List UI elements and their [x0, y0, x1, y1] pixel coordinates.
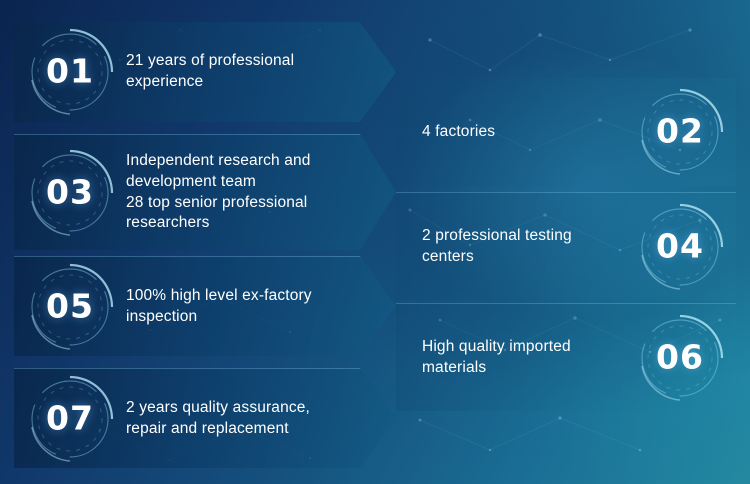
number-badge-01: 01	[14, 22, 126, 122]
number-badge-06: 06	[624, 304, 736, 412]
number-badge-05: 05	[14, 257, 126, 357]
advantage-text-line: 100% high level ex-factory	[126, 287, 312, 304]
number-badge-03: 03	[14, 135, 126, 251]
infographic-canvas: 01 21 years of professional experience 0…	[0, 0, 750, 484]
advantage-text-line: 4 factories	[422, 123, 495, 140]
advantage-text-03: Independent research and development tea…	[126, 151, 355, 235]
advantage-text-line: materials	[422, 358, 618, 379]
number-badge-07: 07	[14, 369, 126, 469]
advantage-panel-04[interactable]: 2 professional testing centers 04	[396, 192, 736, 300]
advantage-text-06: High quality imported materials	[396, 337, 624, 379]
advantage-text-07: 2 years quality assurance, repair and re…	[126, 398, 354, 440]
number-label: 07	[46, 398, 94, 437]
number-label: 04	[656, 226, 704, 265]
advantage-text-line: 2 years quality assurance,	[126, 399, 310, 416]
advantage-panel-03[interactable]: 03 Independent research and development …	[14, 134, 396, 250]
advantage-text-line: repair and replacement	[126, 419, 310, 440]
advantage-text-line: centers	[422, 247, 618, 268]
advantage-text-line: 28 top senior professional	[126, 193, 311, 214]
advantage-text-line: 21 years of professional	[126, 52, 294, 69]
advantage-text-line: experience	[126, 72, 294, 93]
advantage-text-02: 4 factories	[396, 122, 624, 143]
advantage-text-line: development team	[126, 172, 311, 193]
number-label: 06	[656, 337, 704, 376]
number-label: 03	[46, 172, 94, 211]
advantage-panel-06[interactable]: High quality imported materials 06	[396, 303, 736, 411]
advantage-panel-05[interactable]: 05 100% high level ex-factory inspection	[14, 256, 396, 356]
advantage-text-04: 2 professional testing centers	[396, 226, 624, 268]
number-label: 05	[46, 286, 94, 325]
advantage-text-line: High quality imported	[422, 338, 571, 355]
number-badge-04: 04	[624, 193, 736, 301]
advantage-text-line: researchers	[126, 213, 311, 234]
advantage-panel-07[interactable]: 07 2 years quality assurance, repair and…	[14, 368, 396, 468]
advantage-panel-02[interactable]: 4 factories 02	[396, 78, 736, 186]
panels-container: 01 21 years of professional experience 0…	[0, 0, 750, 484]
number-label: 02	[656, 112, 704, 151]
advantage-panel-01[interactable]: 01 21 years of professional experience	[14, 22, 396, 122]
advantage-text-05: 100% high level ex-factory inspection	[126, 286, 356, 328]
advantage-text-line: Independent research and	[126, 152, 311, 169]
advantage-text-01: 21 years of professional experience	[126, 51, 338, 93]
advantage-text-line: inspection	[126, 307, 312, 328]
number-label: 01	[46, 52, 94, 91]
number-badge-02: 02	[624, 78, 736, 186]
advantage-text-line: 2 professional testing	[422, 227, 572, 244]
